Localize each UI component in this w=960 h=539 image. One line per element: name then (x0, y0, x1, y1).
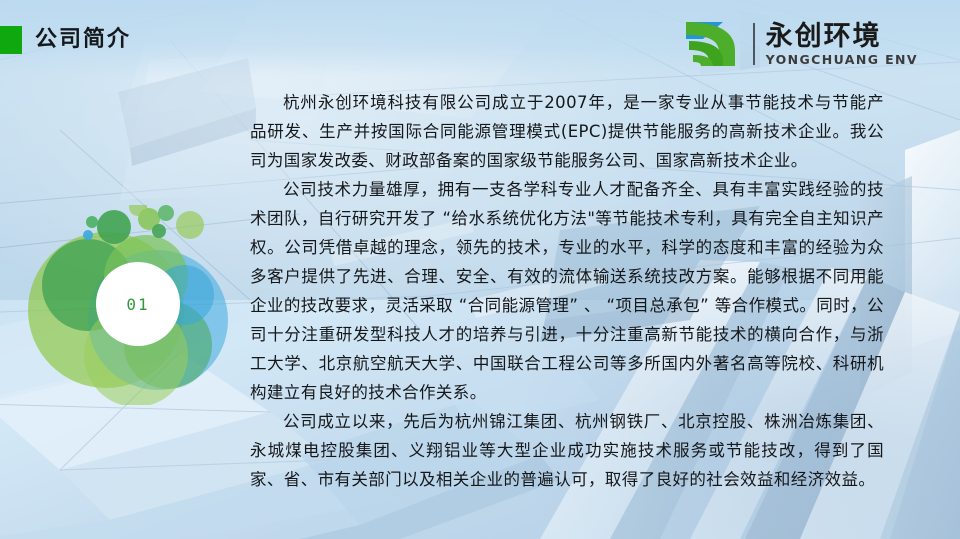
logo-chinese-name: 永创环境 (766, 22, 918, 52)
yongchuang-leaf-mark-icon (683, 19, 745, 69)
paragraph-3: 公司成立以来，先后为杭州锦江集团、杭州钢铁厂、北京控股、株洲冶炼集团、永城煤电控… (250, 407, 884, 494)
logo-english-name: YONGCHUANG ENV (766, 53, 918, 67)
presentation-slide: 01 公司简介 永创环境 YONGCHUANG ENV 杭州永创环境科技有限公司… (0, 0, 960, 539)
title-accent-marker (0, 26, 22, 54)
section-number-badge: 01 (96, 262, 180, 346)
page-title: 公司简介 (35, 25, 131, 55)
company-introduction-text: 杭州永创环境科技有限公司成立于2007年，是一家专业从事节能技术与节能产品研发、… (250, 88, 884, 494)
paragraph-2: 公司技术力量雄厚，拥有一支各学科专业人才配备齐全、具有丰富实践经验的技术团队，自… (250, 175, 884, 407)
logo-divider (753, 23, 755, 65)
logo-wordmark: 永创环境 YONGCHUANG ENV (766, 22, 918, 67)
paragraph-1: 杭州永创环境科技有限公司成立于2007年，是一家专业从事节能技术与节能产品研发、… (250, 88, 884, 175)
company-logo: 永创环境 YONGCHUANG ENV (683, 18, 918, 70)
